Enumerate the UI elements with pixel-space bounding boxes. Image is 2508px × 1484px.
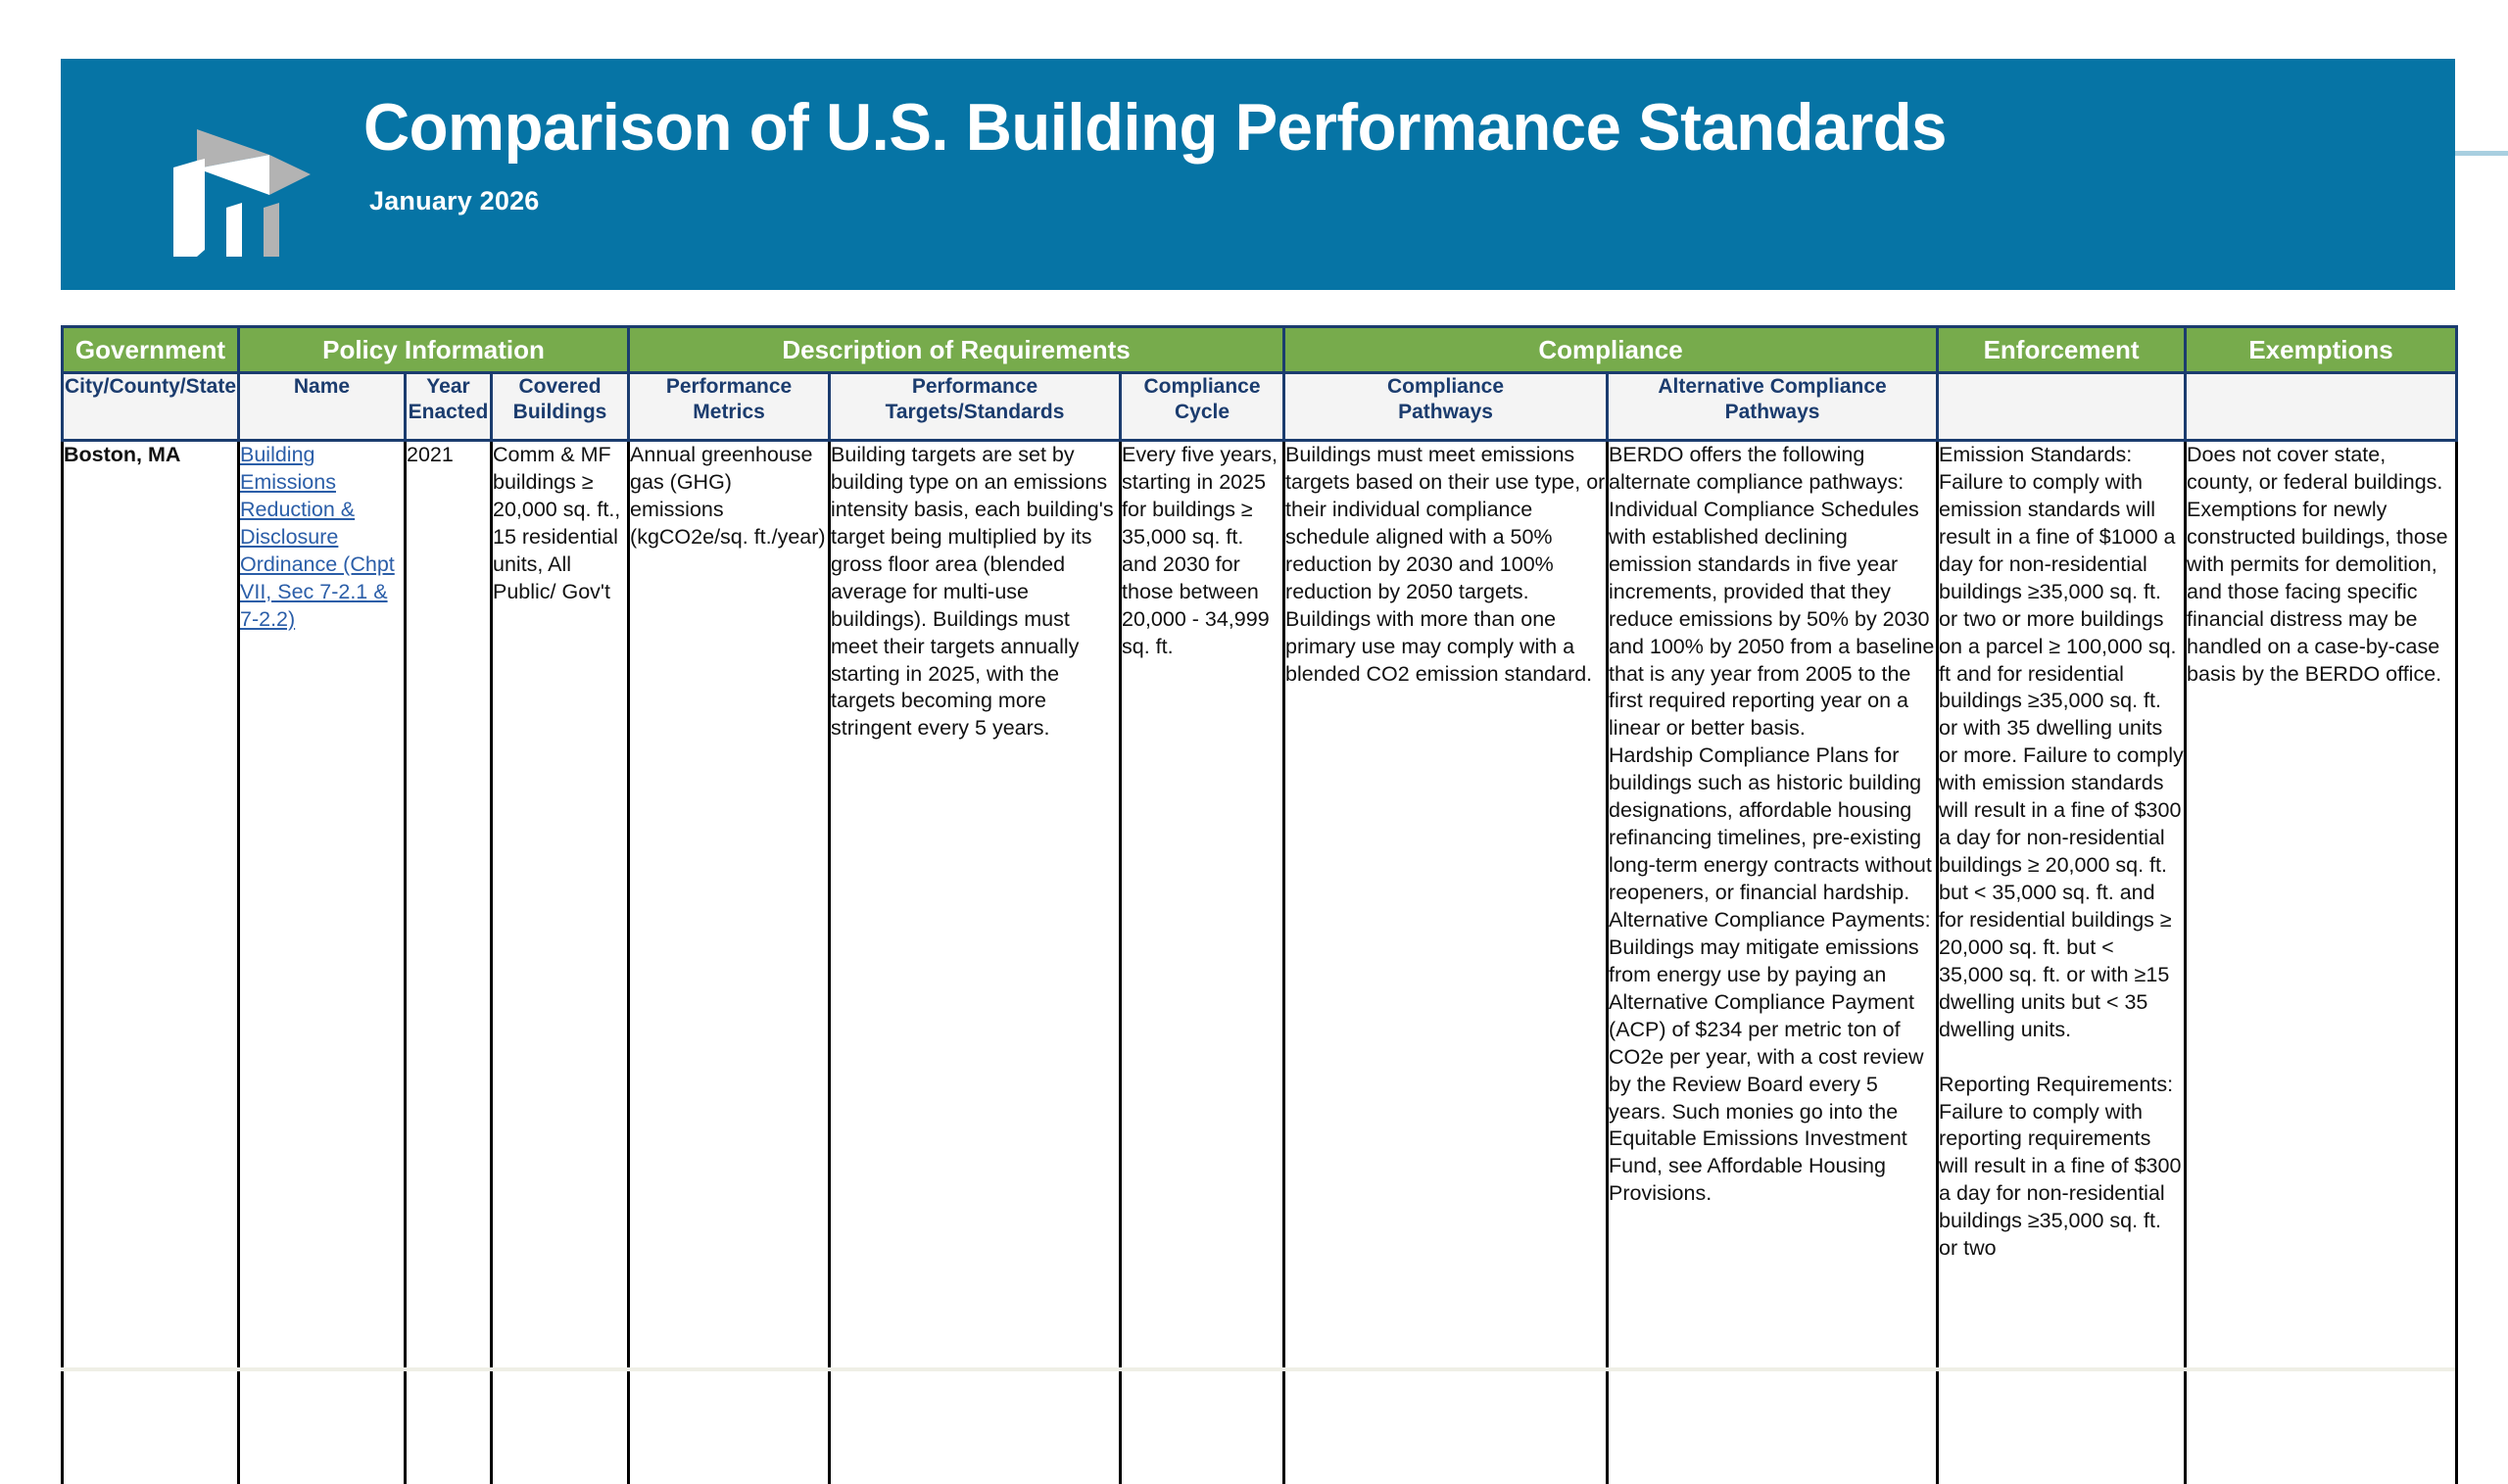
col-head-line2: Metrics [630,400,828,425]
value-enforcement: Emission Standards: Failure to comply wi… [1939,442,2184,1263]
institute-for-market-transformation-logo [154,90,320,257]
col-head-line2: Enacted [407,400,490,425]
col-head-line1: Compliance [1144,375,1261,398]
value-compliance-pathways: Buildings must meet emissions targets ba… [1285,442,1606,688]
cell-compliance-cycle: Every five years, starting in 2025 for b… [1121,441,1284,1484]
value-exemptions: Does not cover state, county, or federal… [2187,442,2455,688]
value-performance-targets: Building targets are set by building typ… [831,442,1119,742]
group-header-government: Government [63,327,239,373]
col-head-line1: Performance [912,375,1037,398]
value-performance-metrics: Annual greenhouse gas (GHG) emissions (k… [630,442,828,551]
cell-alternative-compliance-pathways: BERDO offers the following alternate com… [1608,441,1938,1484]
col-head-line1: Compliance [1387,375,1504,398]
group-header-description-of-requirements: Description of Requirements [629,327,1284,373]
col-head-line1: Name [294,375,350,398]
page-title: Comparison of U.S. Building Performance … [363,94,1947,161]
column-header-compliance-cycle: Compliance Cycle [1121,373,1284,441]
group-header-exemptions: Exemptions [2186,327,2457,373]
col-head-line2: Pathways [1285,400,1606,425]
column-header-enforcement-blank [1938,373,2186,441]
column-header-compliance-pathways: Compliance Pathways [1284,373,1608,441]
column-header-year-enacted: Year Enacted [406,373,492,441]
col-head-line2: Pathways [1609,400,1936,425]
table-bottom-edge [61,1367,2455,1371]
table-subheader-row: City/County/State Name Year Enacted Cove… [63,373,2457,441]
value-covered-buildings: Comm & MF buildings ≥ 20,000 sq. ft., 15… [493,442,627,606]
column-header-performance-metrics: Performance Metrics [629,373,830,441]
col-head-line1: Year [426,375,469,398]
group-header-policy-information: Policy Information [239,327,629,373]
cell-covered-buildings: Comm & MF buildings ≥ 20,000 sq. ft., 15… [492,441,629,1484]
cell-compliance-pathways: Buildings must meet emissions targets ba… [1284,441,1608,1484]
col-head-line1: Alternative Compliance [1658,375,1886,398]
column-header-performance-targets-standards: Performance Targets/Standards [830,373,1121,441]
column-header-exemptions-blank [2186,373,2457,441]
bps-comparison-table: Government Policy Information Descriptio… [61,325,2458,1484]
column-header-city-county-state: City/County/State [63,373,239,441]
col-head-line1: Performance [666,375,792,398]
cell-policy-name: Building Emissions Reduction & Disclosur… [239,441,406,1484]
column-header-covered-buildings: Covered Buildings [492,373,629,441]
cell-performance-metrics: Annual greenhouse gas (GHG) emissions (k… [629,441,830,1484]
value-year-enacted: 2021 [407,442,490,469]
banner-accent-rule [2455,151,2508,156]
col-head-line2: Targets/Standards [831,400,1119,425]
table-row: Boston, MA Building Emissions Reduction … [63,441,2457,1484]
col-head-line1: City/County/State [65,375,236,398]
policy-name-link[interactable]: Building Emissions Reduction & Disclosur… [240,442,404,634]
page-banner: Comparison of U.S. Building Performance … [61,59,2455,290]
cell-performance-targets: Building targets are set by building typ… [830,441,1121,1484]
table-group-header-row: Government Policy Information Descriptio… [63,327,2457,373]
value-compliance-cycle: Every five years, starting in 2025 for b… [1122,442,1282,661]
column-header-name: Name [239,373,406,441]
value-city-county-state: Boston, MA [64,442,237,469]
cell-year-enacted: 2021 [406,441,492,1484]
group-header-enforcement: Enforcement [1938,327,2186,373]
col-head-line2: Cycle [1122,400,1282,425]
cell-enforcement: Emission Standards: Failure to comply wi… [1938,441,2186,1484]
cell-government: Boston, MA [63,441,239,1484]
column-header-alternative-compliance-pathways: Alternative Compliance Pathways [1608,373,1938,441]
col-head-line2: Buildings [493,400,627,425]
group-header-compliance: Compliance [1284,327,1938,373]
value-alternative-compliance-pathways: BERDO offers the following alternate com… [1609,442,1936,1208]
page-subtitle-date: January 2026 [369,186,2012,216]
col-head-line1: Covered [519,375,602,398]
cell-exemptions: Does not cover state, county, or federal… [2186,441,2457,1484]
